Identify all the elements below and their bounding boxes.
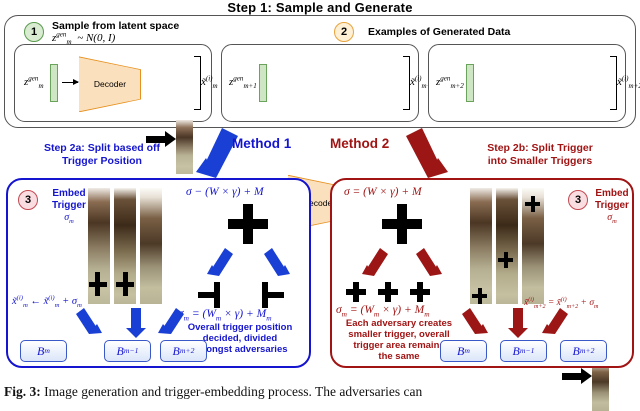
panel-2a-split-arrow-left — [205, 248, 235, 285]
step-2a-heading-line1: Step 2a: Split based off — [14, 142, 190, 155]
panel-2b-b-arrow-1 — [462, 308, 490, 343]
panel-2a-embed-line2: Trigger — [44, 200, 94, 212]
panel-2a-b-arrow-3 — [156, 308, 184, 343]
latent-formula-tail: ~ N(0, I) — [77, 32, 115, 44]
panel-2a-trigger-plus — [228, 204, 268, 244]
panel-2b-ef-sup1: (i) — [528, 297, 534, 303]
panel-2a-fb-rest1: = (W — [189, 308, 216, 320]
panel-2b-split-arrow-left — [360, 248, 390, 285]
pipeline-1-output-label: x̃(i)m — [201, 76, 218, 88]
pipeline-3-fat-arrow — [562, 373, 582, 380]
pipeline-3-output-label: x̃(i)m+2 — [617, 76, 640, 88]
panel-2a-note-line1: Overall trigger position — [176, 322, 304, 333]
panel-2b-ef-tail: + σ — [578, 298, 594, 308]
pipeline-1-latent-sup: gen — [28, 74, 38, 82]
panel-2b-formula-top: σ = (W × γ) + M — [344, 186, 422, 198]
panel-2b-embed-line1: Embed — [588, 188, 636, 200]
panel-2b-note-line2: smaller trigger, overall — [336, 329, 462, 340]
panel-2b-embed-line2: Trigger — [588, 200, 636, 212]
panel-2b-b-box-1[interactable]: Bm — [440, 340, 487, 362]
panel-2b-embed-formula: x̃(i)m+2 = x̃(i)m+2 + σm — [524, 298, 598, 308]
pipeline-1-latent-bar — [50, 64, 58, 102]
panel-2a-b-arrow-1 — [76, 308, 104, 343]
panel-2b-b-box-2-label: B — [513, 344, 520, 359]
panel-2a-formula-bottom: σm = (Wm × γ) + Mm — [178, 308, 272, 320]
panel-2a-half-trigger-right — [260, 282, 284, 308]
panel-2b-small-plus-2 — [378, 282, 398, 302]
method-2-arrow — [404, 128, 452, 180]
panel-2b-b-arrow-2 — [508, 308, 528, 343]
pipeline-1-latent-label: zgenm — [24, 76, 44, 88]
panel-2a-embed-formula: x̃(i)m ← x̃(i)m + σm — [12, 296, 82, 307]
panel-2b-fb-rest2: × γ) + M — [379, 304, 424, 316]
step-2a-heading-line2: Trigger Position — [14, 155, 190, 168]
panel-2b-formula-bottom: σm = (Wm × γ) + Mm — [336, 304, 430, 316]
step-2a-heading: Step 2a: Split based off Trigger Positio… — [14, 142, 190, 168]
panel-2a-b-box-3[interactable]: Bm+2 — [160, 340, 207, 362]
pipeline-1-latent-sub: m — [38, 82, 43, 90]
panel-2a-b-box-1[interactable]: Bm — [20, 340, 67, 362]
panel-2b-sigma-label: σm — [588, 212, 636, 223]
panel-2b-b-box-3-label: B — [573, 344, 580, 359]
panel-2b-split-arrow-right — [414, 248, 444, 285]
figure-caption-label: Fig. 3: — [4, 384, 41, 399]
generated-data-heading: Examples of Generated Data — [368, 26, 510, 38]
panel-2a-sigma-sub: m — [69, 218, 74, 225]
panel-2a-half-trigger-left — [198, 282, 222, 308]
figure-caption: Fig. 3: Image generation and trigger-emb… — [4, 384, 638, 400]
panel-2a-b-box-2-label: B — [117, 344, 124, 359]
step-2b-heading-line1: Step 2b: Split Trigger — [450, 142, 630, 155]
pipeline-3-latent-label: zgenm+2 — [436, 76, 464, 88]
panel-2a-b-arrow-2 — [126, 308, 146, 343]
pipeline-1-output-sup: (i) — [206, 74, 213, 82]
pipeline-2-latent-label: zgenm+1 — [229, 76, 257, 88]
pipeline-3-bracket — [610, 56, 617, 110]
panel-2a-embed-line1: Embed — [44, 188, 94, 200]
panel-2b-image-3 — [522, 188, 544, 304]
panel-2b-b-box-1-label: B — [457, 344, 464, 359]
pipeline-2-latent-sub: m+1 — [243, 82, 256, 90]
panel-2a-b-box-2[interactable]: Bm−1 — [104, 340, 151, 362]
panel-2a-image-3 — [140, 188, 162, 304]
step-2b-heading: Step 2b: Split Trigger into Smaller Trig… — [450, 142, 630, 168]
panel-2a-b-box-3-label: B — [173, 344, 180, 359]
panel-2b-fb-rest1: = (W — [347, 304, 374, 316]
method-1-label: Method 1 — [232, 136, 291, 151]
pipeline-3-latent-sup: gen — [440, 74, 450, 82]
panel-2b-embed-label: Embed Trigger — [588, 188, 636, 212]
panel-2a-embed-label: Embed Trigger — [44, 188, 94, 212]
panel-2a-image-1 — [88, 188, 110, 304]
panel-2a-ef-sup2: (i) — [48, 295, 54, 302]
panel-2a-formula-top: σ − (W × γ) + M — [186, 186, 264, 198]
pipeline-1-decoder-label: Decoder — [79, 79, 141, 89]
pipeline-2-latent-sup: gen — [233, 74, 243, 82]
panel-2b-b-arrow-3 — [540, 308, 568, 343]
pipeline-2-output-sup: (i) — [415, 74, 422, 82]
panel-2b-trigger-plus — [382, 204, 422, 244]
panel-2a-fb-rest2: × γ) + M — [221, 308, 266, 320]
pipeline-2-bracket — [403, 56, 410, 110]
pipeline-3-latent-bar — [466, 64, 474, 102]
panel-2b-ef-rest: = x̃ — [546, 298, 561, 308]
pipeline-3-output-sub: m+2 — [629, 82, 640, 90]
pipeline-1-bracket — [194, 56, 201, 110]
step-2b-heading-line2: into Smaller Triggers — [450, 155, 630, 168]
latent-formula: zgenm ~ N(0, I) — [52, 32, 115, 44]
sample-latent-heading: Sample from latent space — [52, 20, 179, 32]
panel-2a-split-arrow-right — [262, 248, 292, 285]
step1-title: Step 1: Sample and Generate — [0, 0, 640, 15]
badge-1: 1 — [24, 22, 44, 42]
panel-2a-b-box-1-label: B — [37, 344, 44, 359]
panel-2b-note-line1: Each adversary creates — [336, 318, 462, 329]
pipeline-3-latent-sub: m+2 — [450, 82, 463, 90]
figure-caption-text: Image generation and trigger-embedding p… — [44, 384, 422, 399]
latent-formula-sup: gen — [56, 30, 66, 38]
panel-2b-image-2 — [496, 188, 518, 304]
pipeline-1-thin-arrow — [62, 82, 78, 83]
panel-2b-ef-sup2: (i) — [561, 297, 567, 303]
pipeline-3-output-sup: (i) — [622, 74, 629, 82]
panel-2a-badge-3: 3 — [18, 190, 38, 210]
panel-2a-sigma-label: σm — [44, 212, 94, 223]
panel-2a-ef-tail: + σ — [60, 296, 78, 307]
badge-2: 2 — [334, 22, 354, 42]
panel-2b-small-plus-3 — [410, 282, 430, 302]
panel-2b-ef-sub2: m+2 — [567, 304, 579, 310]
panel-2b-ef-sub3: m — [594, 304, 598, 310]
panel-2b-image-1 — [470, 188, 492, 304]
panel-2b-fb-sub3: m — [424, 309, 429, 318]
pipeline-2-latent-bar — [259, 64, 267, 102]
panel-2b-small-plus-1 — [346, 282, 366, 302]
panel-2b-b-box-3[interactable]: Bm+2 — [560, 340, 607, 362]
panel-2a-image-2 — [114, 188, 136, 304]
panel-2a-ef-sup1: (i) — [17, 295, 23, 302]
panel-2a-fb-sub3: m — [266, 313, 271, 322]
pipeline-1-output-sub: m — [213, 82, 218, 90]
panel-2b-badge-3: 3 — [568, 190, 588, 210]
method-2-label: Method 2 — [330, 136, 389, 151]
panel-2b-b-box-2[interactable]: Bm−1 — [500, 340, 547, 362]
panel-2b-sigma-sub: m — [612, 218, 617, 225]
panel-2a-ef-rest: ← x̃ — [28, 296, 48, 307]
